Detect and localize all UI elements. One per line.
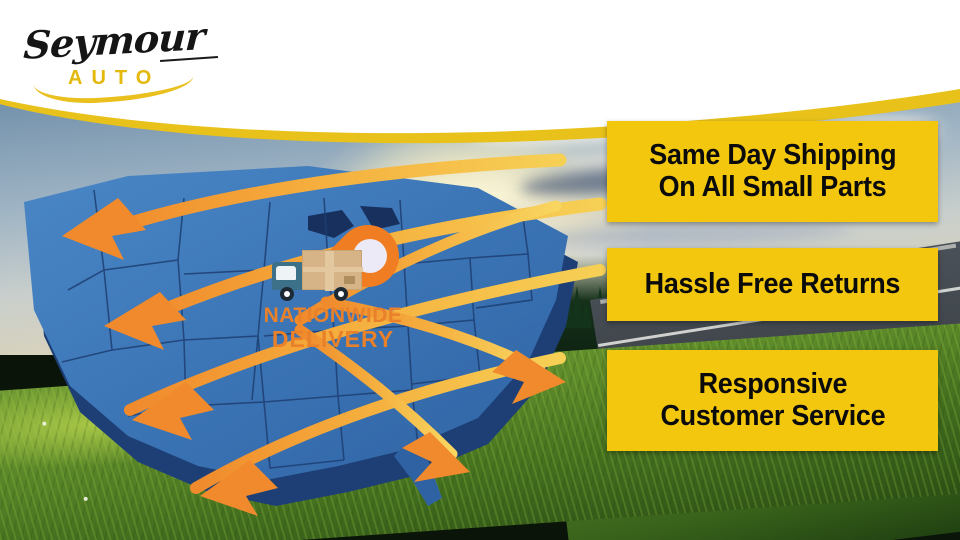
truck-cab [272, 262, 304, 290]
promo-line: On All Small Parts [659, 172, 887, 203]
promo-line: Same Day Shipping [649, 140, 896, 171]
promo-line: Responsive [698, 369, 847, 400]
central-arrow [410, 300, 560, 410]
truck-cargo-box [302, 250, 362, 290]
promo-box-responsive-customer-service[interactable]: Responsive Customer Service [607, 350, 938, 451]
box-label [344, 276, 355, 284]
nationwide-line: NATIONWIDE [258, 305, 408, 326]
delivery-line: DELIVERY [258, 326, 408, 352]
brand-logo[interactable]: Seymour AUTO [20, 14, 200, 98]
truck-wheel [334, 287, 348, 301]
box-tape-horizontal [303, 267, 363, 272]
promo-box-same-day-shipping[interactable]: Same Day Shipping On All Small Parts [607, 121, 938, 222]
promo-line: Customer Service [660, 401, 885, 432]
promo-box-hassle-free-returns[interactable]: Hassle Free Returns [607, 248, 938, 321]
promo-line: Hassle Free Returns [645, 269, 901, 300]
delivery-truck-icon [272, 248, 364, 300]
banner-canvas: NATIONWIDE DELIVERY Seymour AUTO Same Da… [0, 0, 960, 540]
nationwide-delivery-label: NATIONWIDE DELIVERY [258, 305, 408, 352]
truck-window [276, 266, 296, 280]
truck-wheel [280, 287, 294, 301]
